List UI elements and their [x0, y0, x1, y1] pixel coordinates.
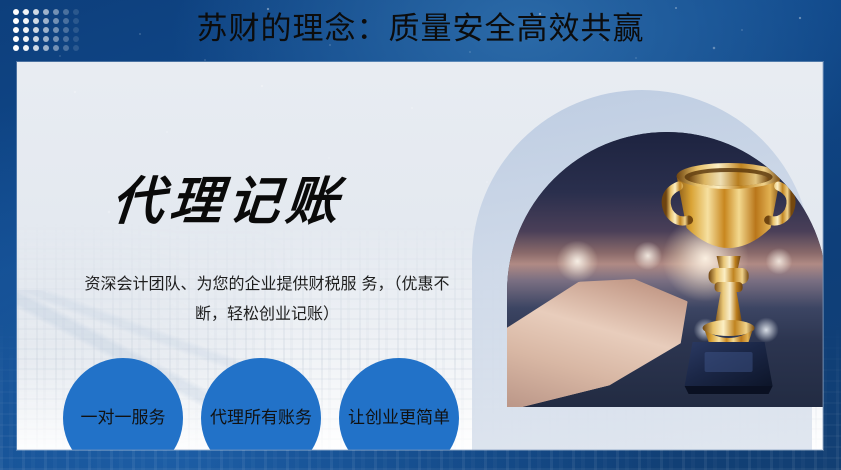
artwork-group [447, 62, 823, 450]
description-text: 资深会计团队、为您的企业提供财税服 务，（优惠不断，轻松创业记账） [72, 269, 462, 329]
trophy-icon [659, 150, 799, 400]
feature-circle-1[interactable]: 一对一服务 [63, 358, 183, 450]
feature-circle-3[interactable]: 让创业更简单 [339, 358, 459, 450]
slide-canvas: 苏财的理念：质量安全高效共赢 [0, 0, 841, 470]
description-line-1: 资深会计团队、为您的企业提供财税服 [84, 274, 356, 293]
slide-header-title: 苏财的理念：质量安全高效共赢 [0, 4, 841, 54]
page-title: 代理记账 [109, 167, 347, 237]
feature-circle-group: 一对一服务 代理所有账务 让创业更简单 [63, 358, 459, 450]
content-panel: 代理记账 资深会计团队、为您的企业提供财税服 务，（优惠不断，轻松创业记账） 一… [17, 62, 823, 450]
feature-circle-1-label: 一对一服务 [81, 408, 166, 428]
feature-circle-2[interactable]: 代理所有账务 [201, 358, 321, 450]
stadium-lights-background [507, 132, 823, 407]
feature-circle-2-label: 代理所有账务 [210, 408, 312, 428]
trophy-photo-arch [507, 132, 823, 407]
feature-circle-3-label: 让创业更简单 [348, 408, 450, 428]
